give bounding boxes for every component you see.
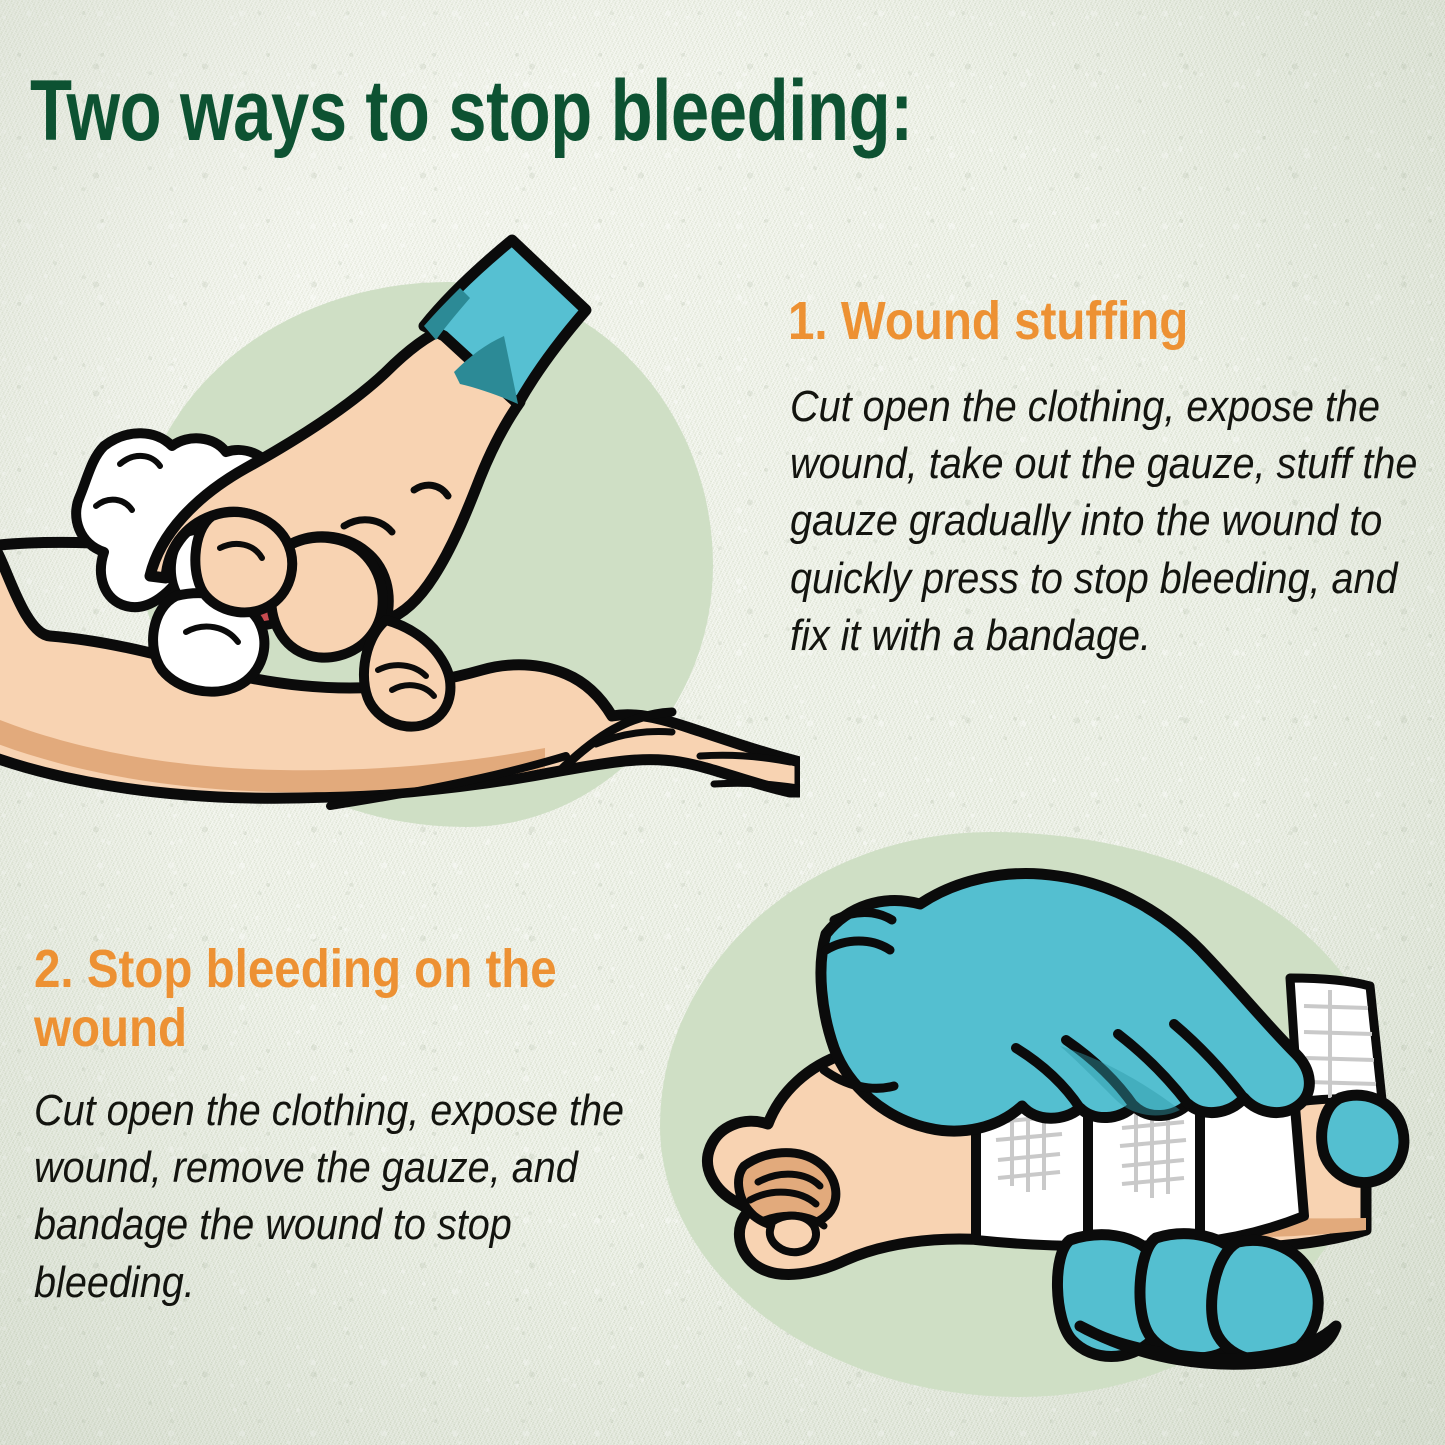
wound-stuffing-illustration (0, 196, 800, 836)
page-title: Two ways to stop bleeding: (30, 68, 913, 154)
infographic-poster: Two ways to stop bleeding: (0, 0, 1445, 1445)
bandaging-illustration (640, 810, 1445, 1445)
upper-gloved-hand (821, 874, 1309, 1132)
step-2-heading: 2. Stop bleeding on the wound (34, 940, 650, 1059)
step-2-body: Cut open the clothing, expose the wound,… (34, 1082, 682, 1311)
step-1-body: Cut open the clothing, expose the wound,… (790, 378, 1429, 664)
step-1-heading: 1. Wound stuffing (788, 292, 1445, 351)
